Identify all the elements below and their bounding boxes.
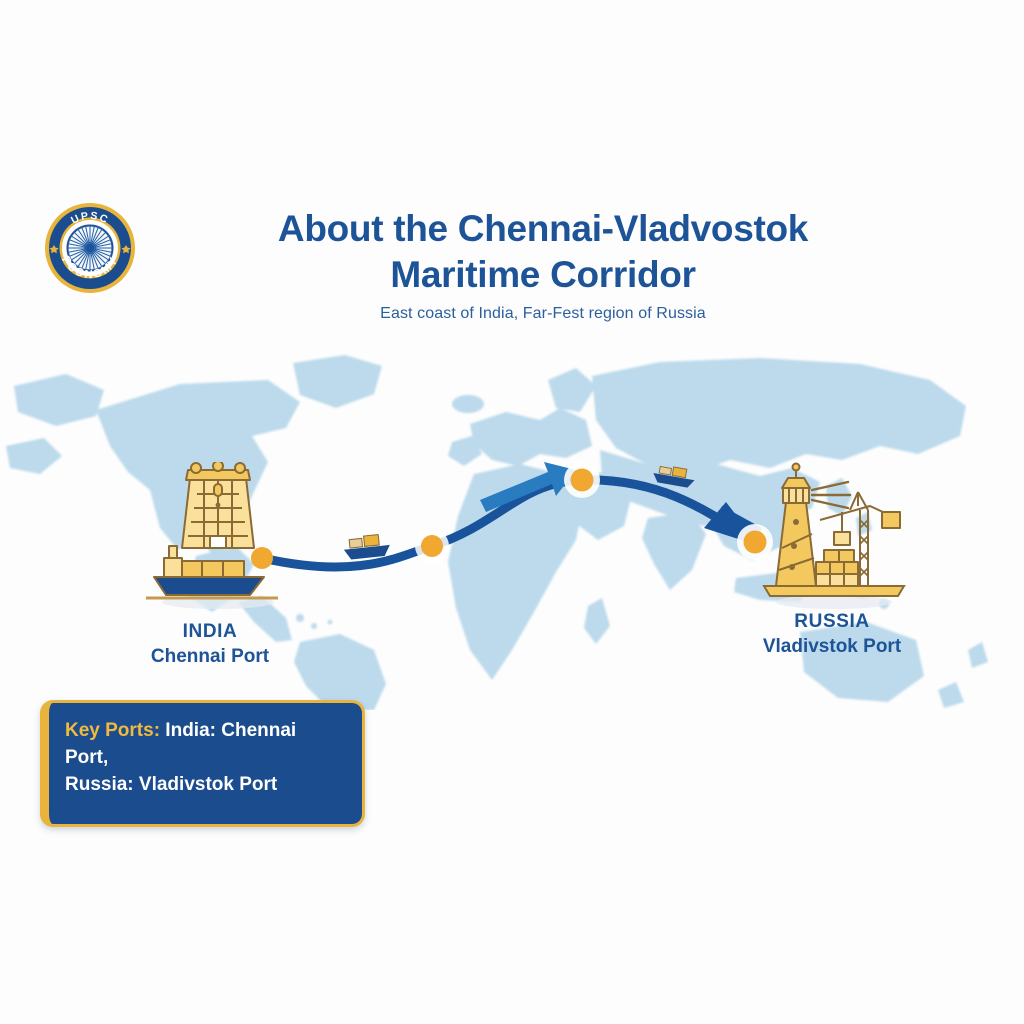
russia-country-name: RUSSIA <box>722 610 942 634</box>
logo-badge-icon: UPSC PCONOMY <box>44 202 136 294</box>
russia-port-name: Vladivstok Port <box>722 634 942 660</box>
lighthouse-crane-containers-icon <box>752 462 912 612</box>
india-port-label: INDIA Chennai Port <box>110 620 310 670</box>
page-subtitle: East coast of India, Far-Fest region of … <box>178 305 908 323</box>
upsc-economy-logo: UPSC PCONOMY <box>44 202 136 294</box>
key-ports-line-2: Russia: Vladivstok Port <box>65 774 277 795</box>
india-country-name: INDIA <box>110 620 310 644</box>
page-title: About the Chennai-Vladvostok Maritime Co… <box>178 206 908 298</box>
title-line-2: Maritime Corridor <box>178 252 908 298</box>
key-ports-label: Key Ports: <box>65 720 160 741</box>
russia-port-label: RUSSIA Vladivstok Port <box>722 610 942 660</box>
infographic-canvas: UPSC PCONOMY About the Chennai-Vladvosto… <box>0 0 1024 1024</box>
russia-port-icon <box>752 462 912 612</box>
india-port-icon <box>138 462 298 612</box>
key-ports-text: Key Ports: India: Chennai Port, Russia: … <box>65 717 344 798</box>
temple-and-ship-icon <box>138 462 298 612</box>
light-beam-icon <box>812 482 850 508</box>
india-port-name: Chennai Port <box>110 644 310 670</box>
title-line-1: About the Chennai-Vladvostok <box>178 206 908 252</box>
header-block: About the Chennai-Vladvostok Maritime Co… <box>178 206 908 323</box>
key-ports-callout: Key Ports: India: Chennai Port, Russia: … <box>40 700 365 827</box>
